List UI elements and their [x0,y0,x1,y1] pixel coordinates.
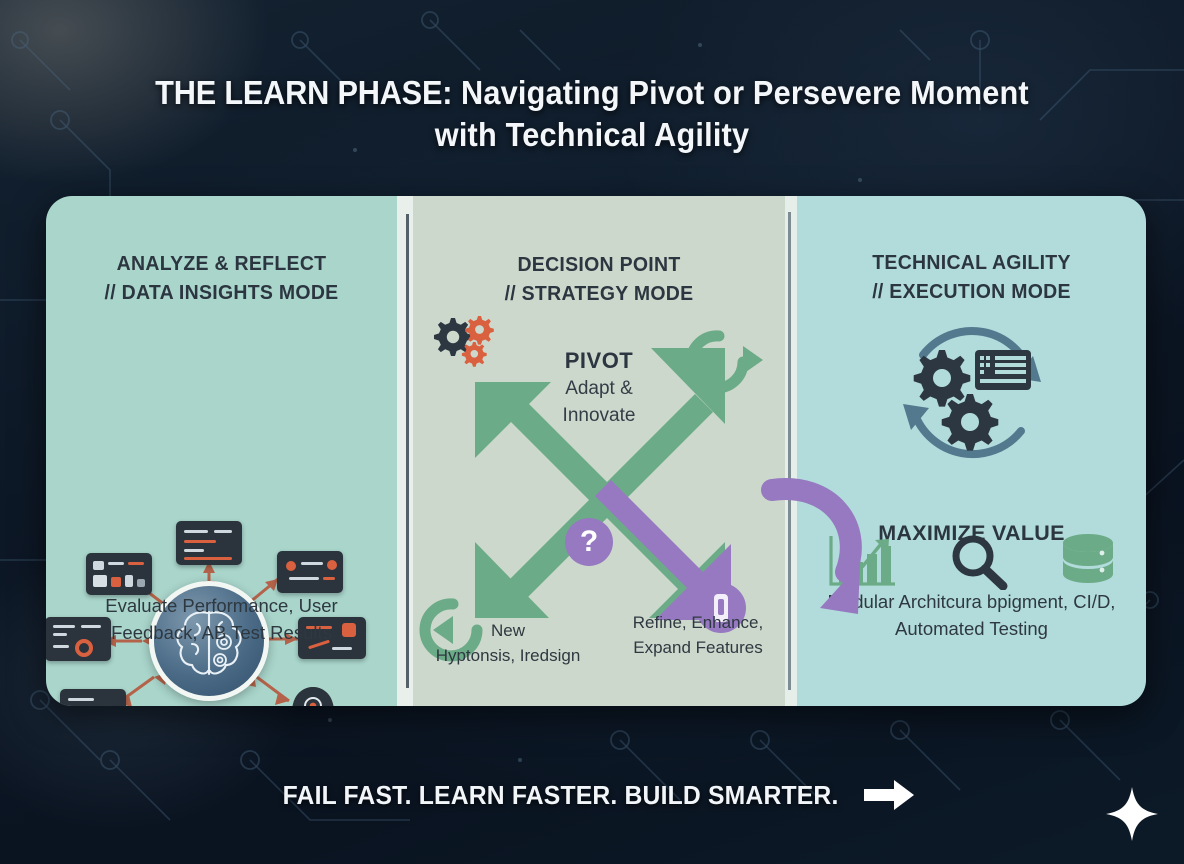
magnifier-icon [947,532,1009,595]
footer-text: FAIL FAST. LEARN FASTER. BUILD SMARTER. [283,780,839,811]
footer-tagline: FAIL FAST. LEARN FASTER. BUILD SMARTER. [0,778,1184,812]
panel-analyze-heading-line2: // DATA INSIGHTS MODE [55,278,388,307]
panel-analyze-footer: Evaluate Performance, User Feedback, AB … [46,592,397,646]
page-title: THE LEARN PHASE: Navigating Pivot or Per… [0,72,1184,156]
panel-analyze-heading: ANALYZE & REFLECT // DATA INSIGHTS MODE [55,249,388,307]
dashboard-card-icon [86,553,152,595]
chart-card-icon [277,551,343,593]
pivot-label-group: PIVOT Adapt & Innovate [413,348,785,428]
panel-divider-2 [785,196,797,706]
analytics-card-icon [176,521,242,565]
title-line-2: with Technical Agility [41,114,1142,156]
location-pin-icon [292,687,334,706]
three-panel-board: ANALYZE & REFLECT // DATA INSIGHTS MODE [46,196,1146,706]
decision-left-line2: Hyptonsis, Iredsign [403,643,613,668]
decision-right-line2: Expand Features [603,635,793,660]
question-mark-badge[interactable]: ? [565,518,613,566]
gears-cycle-icon [887,308,1057,483]
decision-left-line1: New [403,618,613,643]
panel-analyze-heading-line1: ANALYZE & REFLECT [55,249,388,278]
sparkle-icon [1105,786,1159,842]
report-card-icon [60,689,126,706]
pivot-sub-line1: Adapt & [413,376,785,401]
panel-analyze-footer-line2: Feedback, AB Test Results [46,619,397,646]
database-icon [1057,532,1119,595]
pivot-sub-line2: Innovate [413,403,785,428]
purple-curved-arrow [760,468,870,628]
title-strong: THE LEARN PHASE: [155,74,452,111]
arrow-right-icon [864,778,916,812]
panel-analyze-footer-line1: Evaluate Performance, User [46,592,397,619]
panel-decision-footer-left: New Hyptonsis, Iredsign [403,618,613,668]
panel-technical-agility[interactable]: TECHNICAL AGILITY // EXECUTION MODE [797,196,1146,706]
panel-analyze-reflect[interactable]: ANALYZE & REFLECT // DATA INSIGHTS MODE [46,196,397,706]
panel-technical-heading: TECHNICAL AGILITY // EXECUTION MODE [806,248,1138,306]
panel-decision-point[interactable]: DECISION POINT // STRATEGY MODE [413,196,785,706]
panel-technical-heading-line2: // EXECUTION MODE [806,277,1138,306]
pivot-title: PIVOT [413,348,785,374]
title-rest: Navigating Pivot or Persevere Moment [452,74,1029,111]
panel-technical-heading-line1: TECHNICAL AGILITY [806,248,1138,277]
